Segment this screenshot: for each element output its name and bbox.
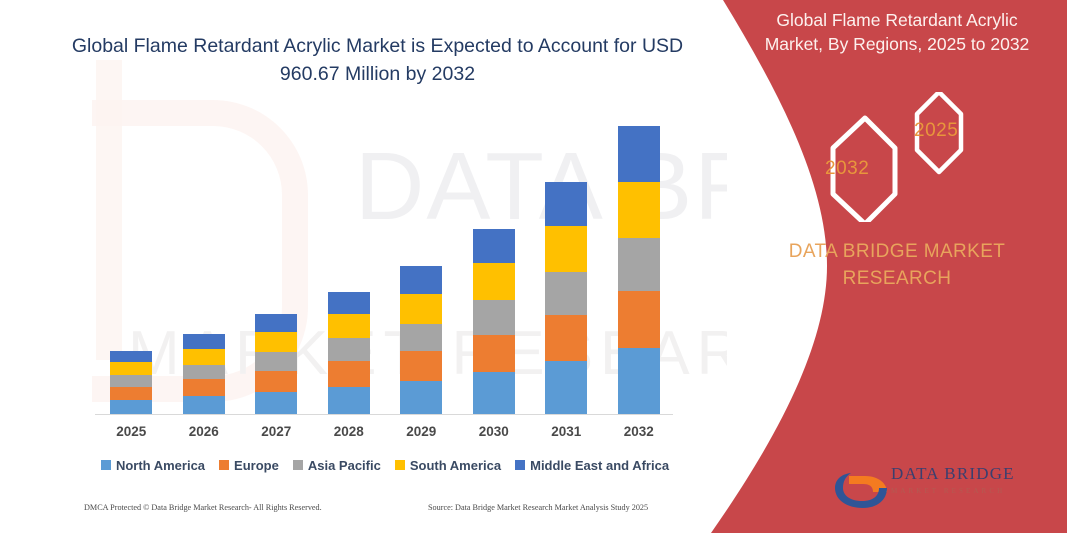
right-red-panel: Global Flame Retardant Acrylic Market, B… <box>687 0 1067 533</box>
bar-segment <box>545 226 587 272</box>
logo-subtitle: MARKET RESEARCH <box>891 487 1015 495</box>
legend-label: Asia Pacific <box>308 458 381 473</box>
legend-swatch <box>395 460 405 470</box>
legend-label: North America <box>116 458 205 473</box>
x-axis-label-2026: 2026 <box>174 424 234 439</box>
stacked-bar-chart <box>95 110 675 415</box>
x-axis-line <box>95 414 673 415</box>
dbmr-logo: DATA BRIDGE MARKET RESEARCH <box>831 458 1061 514</box>
bar-2029 <box>400 266 442 415</box>
bar-segment <box>545 182 587 226</box>
hexagon-2032-label: 2032 <box>825 158 869 180</box>
bar-segment <box>255 352 297 371</box>
legend-swatch <box>219 460 229 470</box>
legend-item[interactable]: South America <box>395 458 501 473</box>
bar-segment <box>183 379 225 396</box>
bar-segment <box>183 349 225 365</box>
bar-segment <box>328 387 370 415</box>
bar-segment <box>255 332 297 352</box>
x-axis-label-2029: 2029 <box>391 424 451 439</box>
bar-segment <box>400 266 442 294</box>
legend-swatch <box>515 460 525 470</box>
legend-item[interactable]: Middle East and Africa <box>515 458 669 473</box>
dbmr-logo-text: DATA BRIDGE MARKET RESEARCH <box>891 464 1015 495</box>
bar-segment <box>473 263 515 301</box>
brand-name: DATA BRIDGE MARKET RESEARCH <box>747 238 1047 292</box>
chart-legend: North AmericaEuropeAsia PacificSouth Ame… <box>95 455 675 475</box>
bar-segment <box>110 375 152 387</box>
legend-item[interactable]: Asia Pacific <box>293 458 381 473</box>
bar-segment <box>545 361 587 415</box>
legend-item[interactable]: North America <box>101 458 205 473</box>
bar-segment <box>110 387 152 401</box>
panel-title: Global Flame Retardant Acrylic Market, B… <box>747 8 1047 56</box>
x-axis-labels: 20252026202720282029203020312032 <box>95 424 675 446</box>
bar-segment <box>400 324 442 351</box>
logo-title: DATA BRIDGE <box>891 464 1015 484</box>
bar-2030 <box>473 229 515 415</box>
bar-segment <box>255 392 297 415</box>
bar-segment <box>183 396 225 415</box>
bar-segment <box>400 294 442 323</box>
x-axis-label-2031: 2031 <box>536 424 596 439</box>
bar-segment <box>473 335 515 372</box>
bar-2031 <box>545 182 587 415</box>
legend-swatch <box>101 460 111 470</box>
bar-segment <box>618 238 660 291</box>
bar-2028 <box>328 292 370 415</box>
bar-segment <box>618 348 660 415</box>
bar-segment <box>328 292 370 314</box>
bar-2027 <box>255 314 297 415</box>
bar-segment <box>473 229 515 263</box>
bar-segment <box>618 182 660 239</box>
footer: DMCA Protected © Data Bridge Market Rese… <box>0 503 700 523</box>
bar-segment <box>110 362 152 375</box>
bar-segment <box>473 300 515 335</box>
x-axis-label-2032: 2032 <box>609 424 669 439</box>
hexagon-2025-label: 2025 <box>914 120 958 142</box>
bar-2032 <box>618 126 660 415</box>
footer-copyright: DMCA Protected © Data Bridge Market Rese… <box>84 503 322 512</box>
infographic-canvas: DATA BRIDGE MARKET RESEARCH Global Flame… <box>0 0 1067 533</box>
legend-label: Middle East and Africa <box>530 458 669 473</box>
legend-label: Europe <box>234 458 279 473</box>
bar-segment <box>110 351 152 363</box>
dbmr-logo-mark <box>831 458 891 510</box>
bar-segment <box>618 126 660 182</box>
bar-segment <box>328 314 370 338</box>
x-axis-label-2028: 2028 <box>319 424 379 439</box>
bar-segment <box>473 372 515 415</box>
legend-item[interactable]: Europe <box>219 458 279 473</box>
hexagon-group: 2032 2025 <box>787 92 1027 222</box>
bar-segment <box>183 334 225 349</box>
x-axis-label-2027: 2027 <box>246 424 306 439</box>
legend-swatch <box>293 460 303 470</box>
bar-segment <box>255 314 297 332</box>
page-title: Global Flame Retardant Acrylic Market is… <box>70 32 685 88</box>
bar-segment <box>545 315 587 361</box>
legend-label: South America <box>410 458 501 473</box>
bar-2026 <box>183 334 225 415</box>
bar-segment <box>183 365 225 380</box>
red-panel-content: Global Flame Retardant Acrylic Market, B… <box>727 0 1067 533</box>
bar-segment <box>328 361 370 386</box>
bar-segment <box>328 338 370 361</box>
bar-segment <box>545 272 587 315</box>
bar-segment <box>255 371 297 392</box>
footer-source: Source: Data Bridge Market Research Mark… <box>428 503 648 512</box>
bar-segment <box>618 291 660 348</box>
x-axis-label-2025: 2025 <box>101 424 161 439</box>
bar-segment <box>110 400 152 415</box>
bar-segment <box>400 351 442 382</box>
x-axis-label-2030: 2030 <box>464 424 524 439</box>
bar-2025 <box>110 351 152 415</box>
hexagon-shapes <box>787 92 1027 222</box>
bar-segment <box>400 381 442 415</box>
